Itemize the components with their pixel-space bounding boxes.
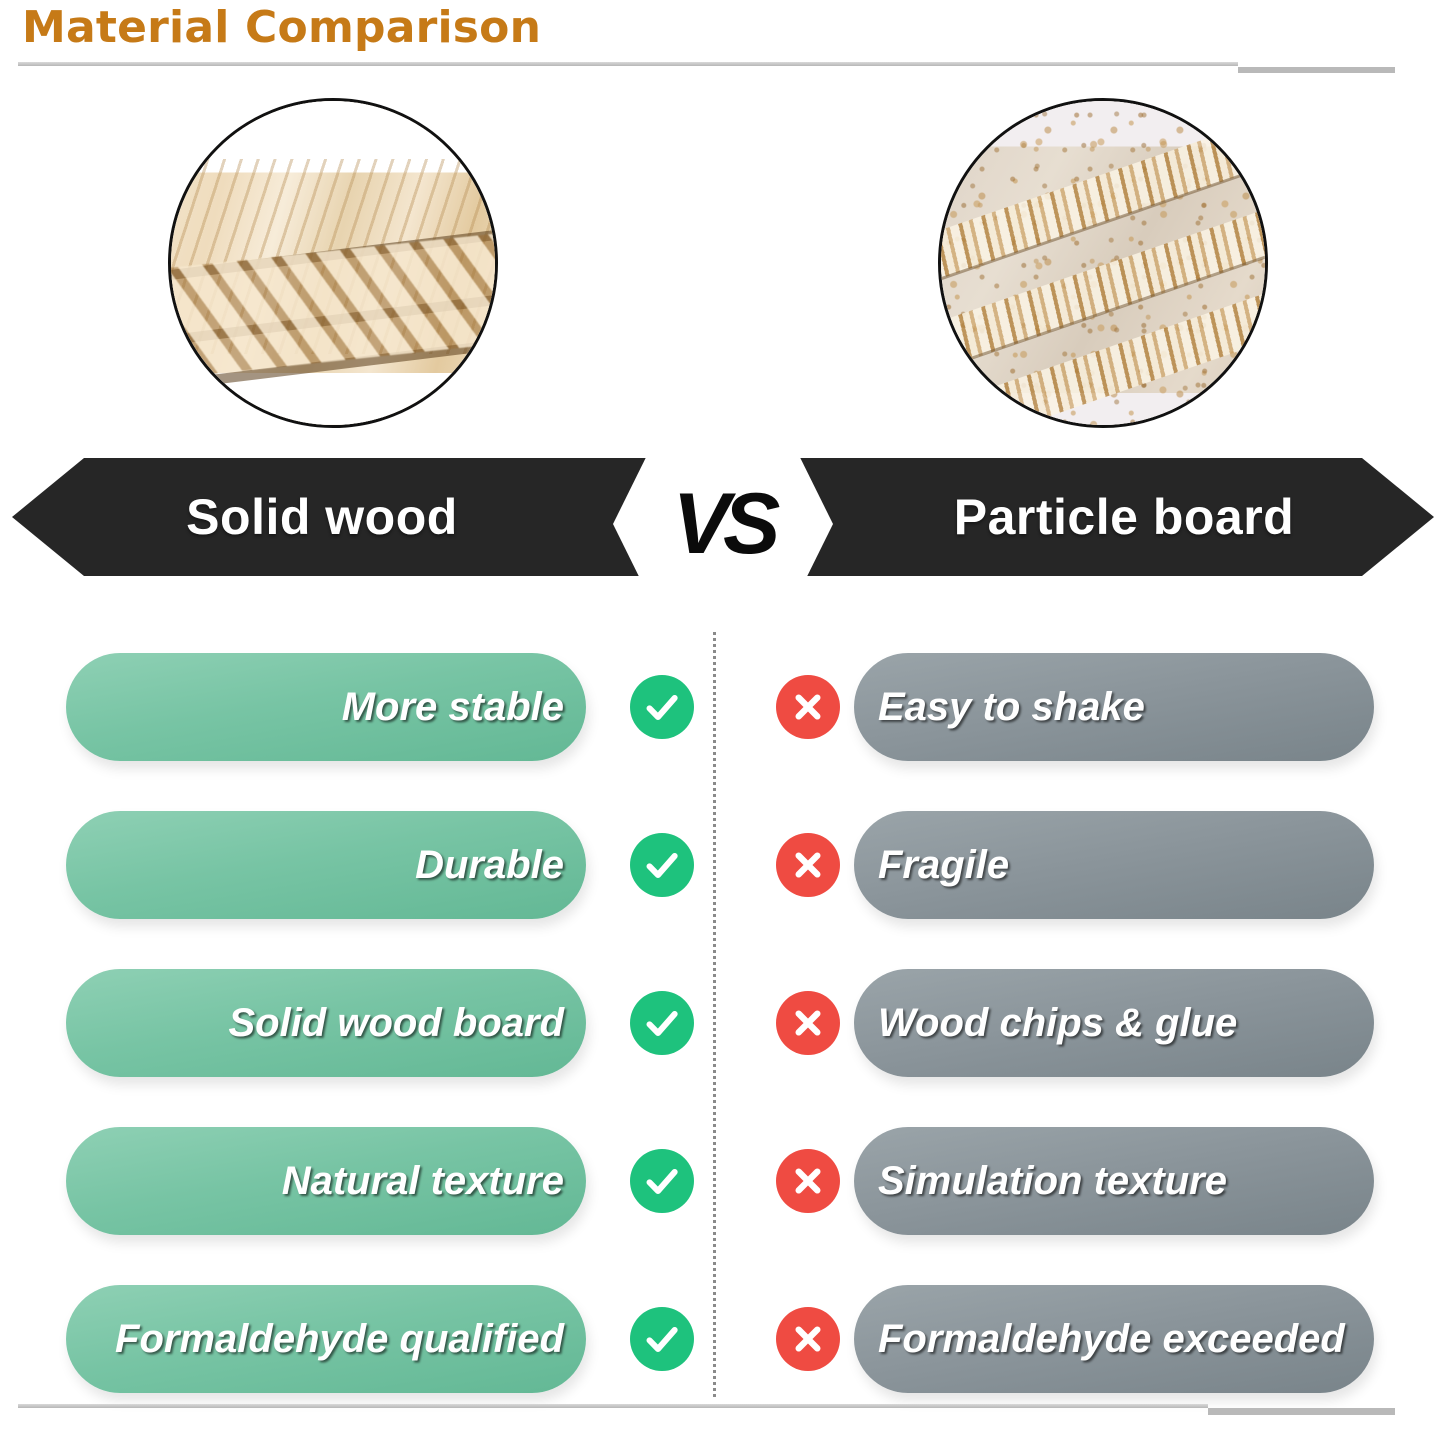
banner-left-label: Solid wood [186,488,458,546]
particle-board-feature-label: Formaldehyde exceeded [878,1317,1345,1362]
comparison-row: Natural texture Simulation texture [0,1102,1445,1260]
title-divider-segment-left [18,62,1238,66]
solid-wood-pill: More stable [66,653,586,761]
particle-board-feature-label: Wood chips & glue [878,1001,1237,1046]
comparison-rows: More stable Easy to shake Durable [0,628,1445,1418]
solid-wood-texture [171,101,495,425]
comparison-row: More stable Easy to shake [0,628,1445,786]
material-comparison-infographic: Material Comparison Solid wood Particle … [0,0,1445,1429]
particle-board-feature-label: Simulation texture [878,1159,1227,1204]
banner-right-label: Particle board [954,488,1294,546]
solid-wood-pill: Solid wood board [66,969,586,1077]
particle-board-feature-label: Easy to shake [878,685,1145,730]
particle-board-photo [938,98,1268,428]
title-divider-top [18,62,1395,67]
cross-icon [776,991,840,1055]
particle-board-pill: Simulation texture [854,1127,1374,1235]
particle-board-pill: Wood chips & glue [854,969,1374,1077]
solid-wood-pill: Natural texture [66,1127,586,1235]
versus-banner: Solid wood Particle board VS [0,444,1445,604]
versus-label: VS [673,481,774,567]
check-icon [630,1149,694,1213]
solid-wood-feature-label: Natural texture [282,1159,564,1204]
footer-divider-segment-left [18,1404,1208,1408]
particle-board-feature-label: Fragile [878,843,1009,888]
solid-wood-photo [168,98,498,428]
particle-board-pill: Easy to shake [854,653,1374,761]
wood-edge-line [168,227,498,283]
wood-edge-line [168,292,498,348]
footer-divider-segment-right [1208,1408,1395,1415]
versus-hexagon: VS [613,444,833,604]
title-divider-segment-right [1238,67,1395,73]
comparison-row: Formaldehyde qualified Formaldehyde exce… [0,1260,1445,1418]
solid-wood-pill: Durable [66,811,586,919]
cross-icon [776,1149,840,1213]
cross-icon [776,1307,840,1371]
check-icon [630,1307,694,1371]
comparison-row: Durable Fragile [0,786,1445,944]
check-icon [630,675,694,739]
cross-icon [776,675,840,739]
particle-board-pill: Fragile [854,811,1374,919]
solid-wood-feature-label: More stable [342,685,564,730]
page-title: Material Comparison [22,2,541,53]
check-icon [630,833,694,897]
solid-wood-feature-label: Durable [415,843,564,888]
solid-wood-feature-label: Formaldehyde qualified [115,1317,564,1362]
solid-wood-feature-label: Solid wood board [228,1001,564,1046]
column-divider [713,632,716,1400]
footer-divider [18,1404,1395,1412]
particle-board-pill: Formaldehyde exceeded [854,1285,1374,1393]
comparison-row: Solid wood board Wood chips & glue [0,944,1445,1102]
cross-icon [776,833,840,897]
solid-wood-pill: Formaldehyde qualified [66,1285,586,1393]
wood-edge-line [168,337,498,393]
check-icon [630,991,694,1055]
particle-board-texture [941,101,1265,425]
